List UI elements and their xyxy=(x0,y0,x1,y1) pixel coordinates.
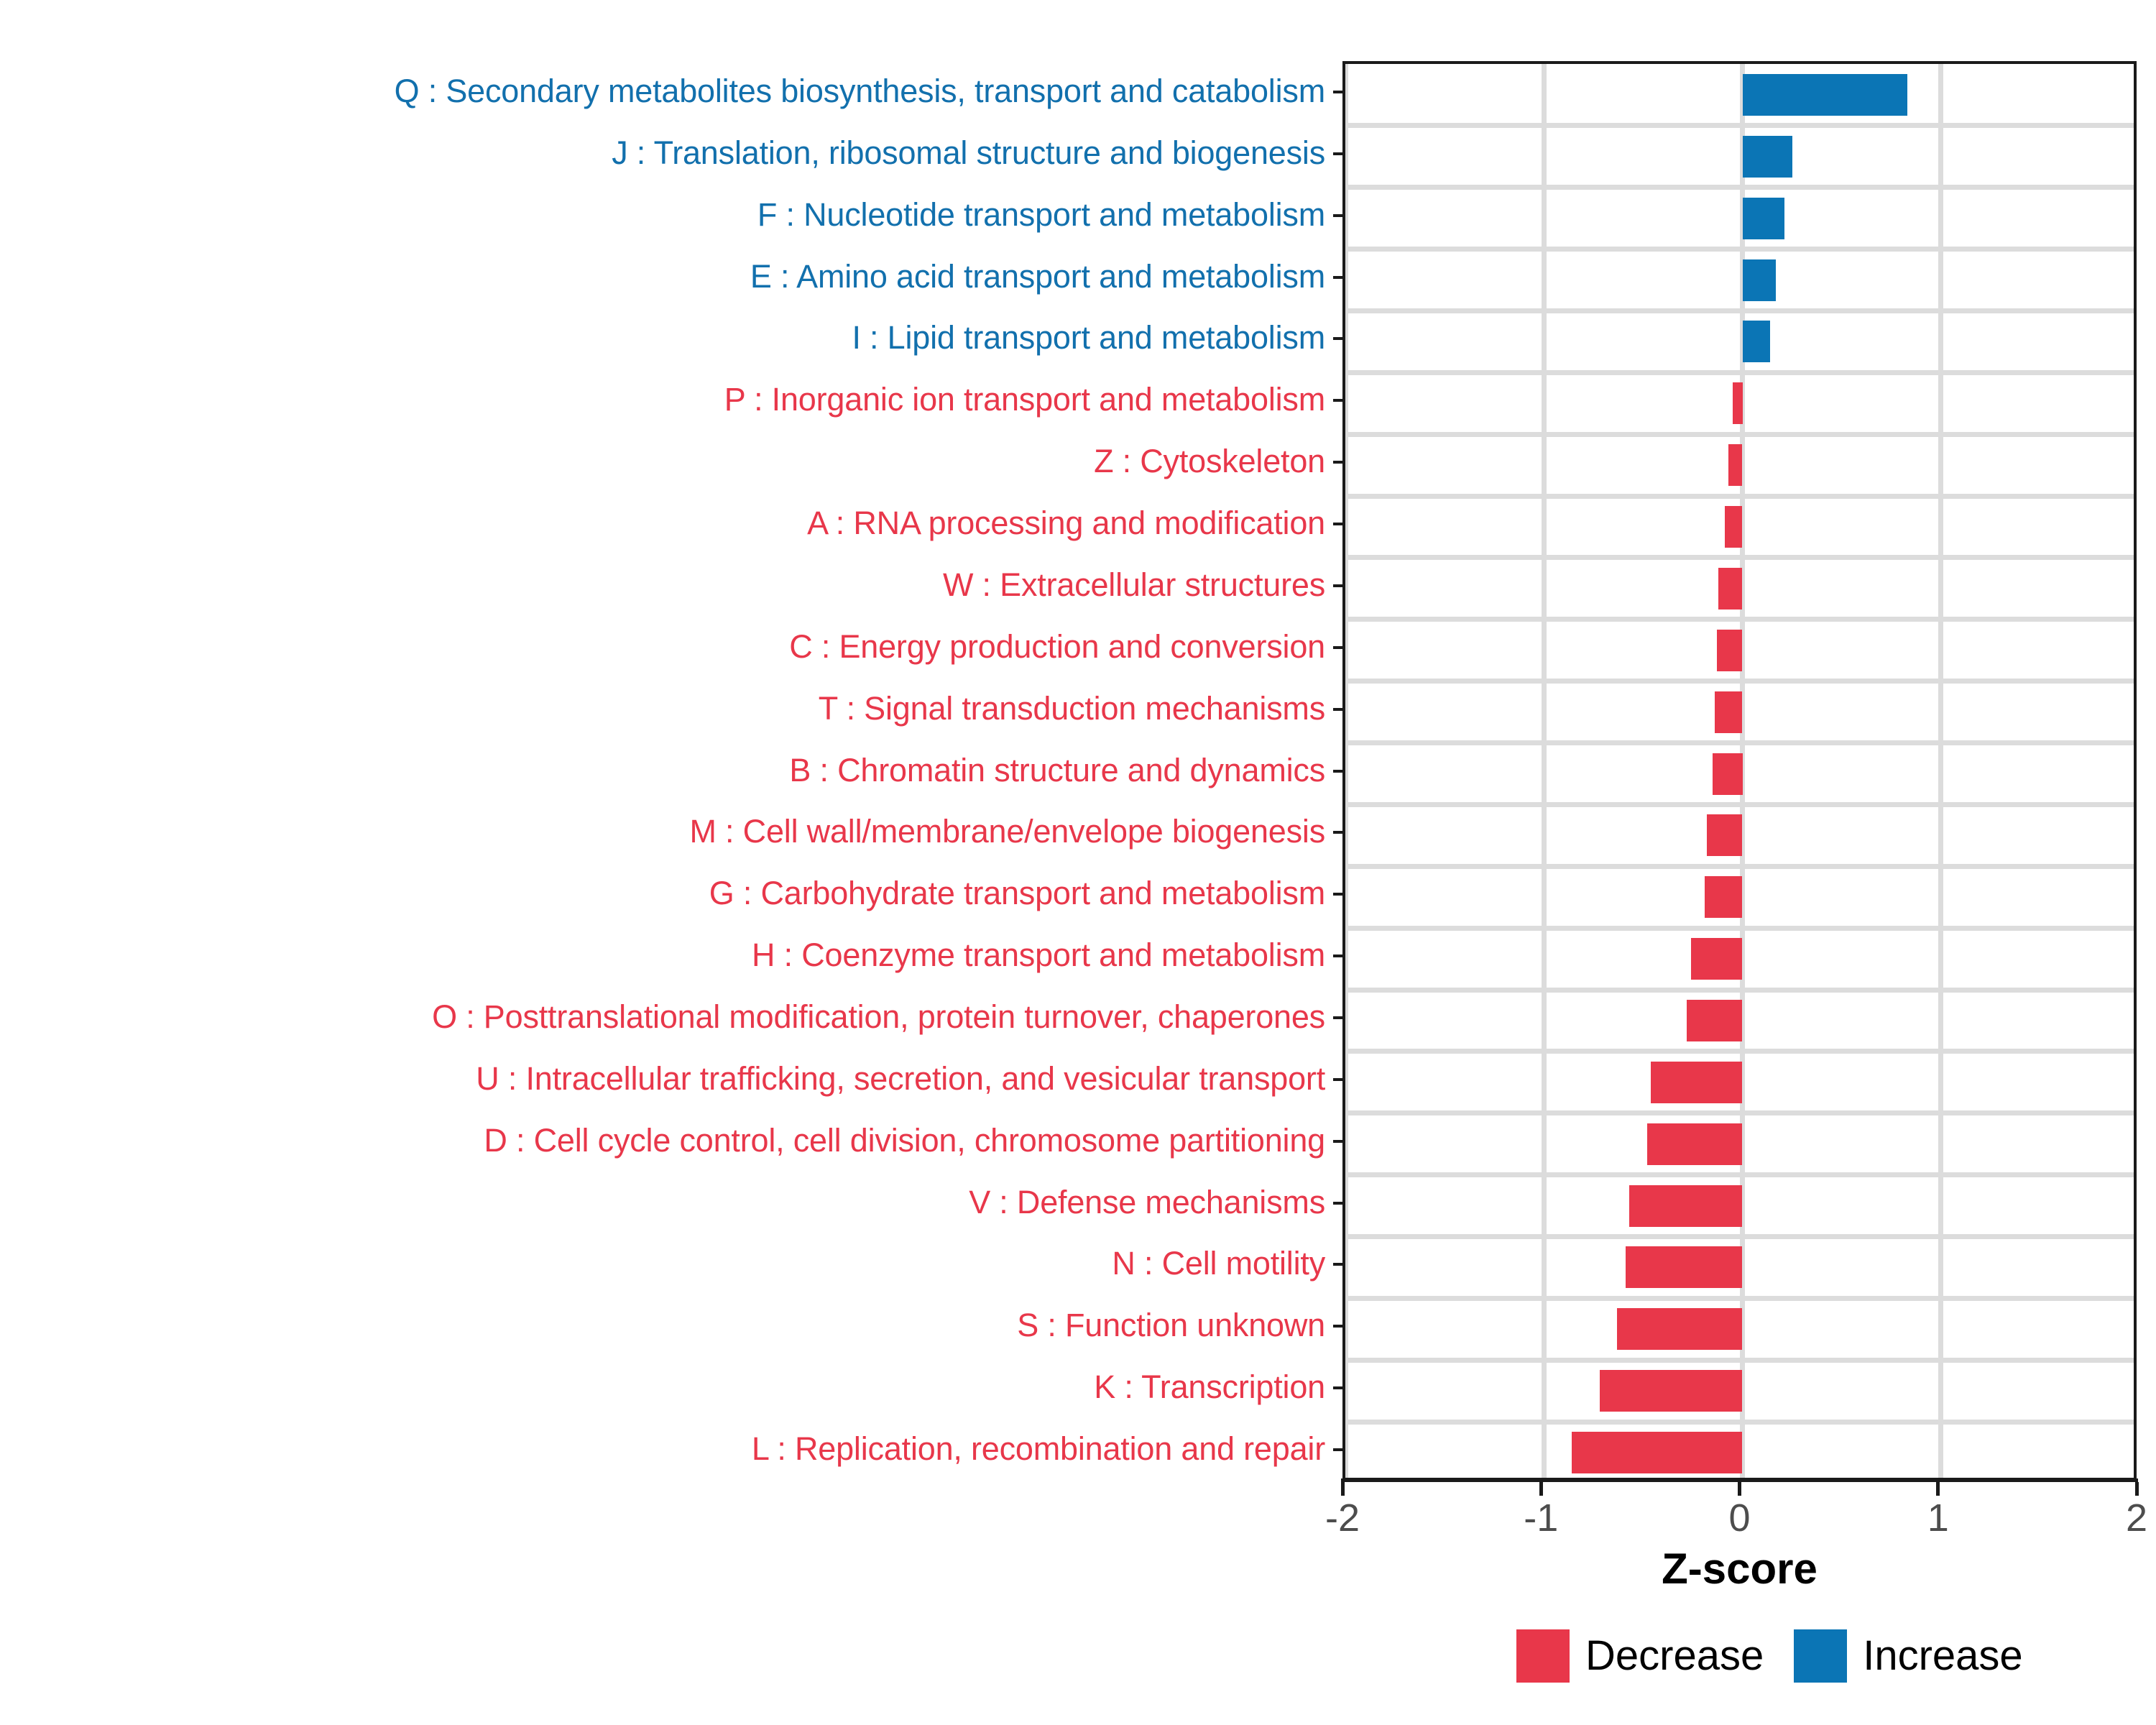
bar xyxy=(1691,938,1743,980)
y-axis-tick xyxy=(1333,91,1342,93)
category-label: A : RNA processing and modification xyxy=(807,507,1325,539)
bar xyxy=(1572,1432,1743,1473)
x-axis-tick xyxy=(1738,1482,1741,1496)
category-label: I : Lipid transport and metabolism xyxy=(852,321,1325,354)
y-axis-tick xyxy=(1333,1448,1342,1451)
y-axis-tick xyxy=(1333,152,1342,155)
y-axis-tick xyxy=(1333,1263,1342,1266)
x-axis-tick-label: -2 xyxy=(1325,1499,1360,1537)
horizontal-gridline xyxy=(1345,247,2134,252)
bar xyxy=(1717,630,1743,671)
category-label: G : Carbohydrate transport and metabolis… xyxy=(709,877,1325,909)
y-axis-tick xyxy=(1333,1016,1342,1019)
horizontal-gridline xyxy=(1345,185,2134,190)
x-axis-tick-label: 1 xyxy=(1927,1499,1949,1537)
legend-swatch xyxy=(1794,1629,1847,1683)
horizontal-gridline xyxy=(1345,1049,2134,1054)
category-label: E : Amino acid transport and metabolism xyxy=(750,260,1325,293)
bar xyxy=(1629,1185,1742,1227)
bar xyxy=(1728,444,1742,486)
y-axis-tick xyxy=(1333,1078,1342,1081)
legend-item: Increase xyxy=(1794,1629,2022,1683)
y-axis-tick xyxy=(1333,276,1342,279)
x-axis-tick-label: 0 xyxy=(1728,1499,1750,1537)
horizontal-gridline xyxy=(1345,802,2134,807)
y-axis-tick xyxy=(1333,646,1342,649)
horizontal-gridline xyxy=(1345,617,2134,622)
vertical-gridline xyxy=(1542,64,1547,1478)
bar xyxy=(1647,1123,1743,1165)
bar xyxy=(1743,259,1777,301)
vertical-gridline xyxy=(1938,64,1943,1478)
y-axis-tick xyxy=(1333,337,1342,340)
category-label: L : Replication, recombination and repai… xyxy=(752,1432,1325,1465)
y-axis-tick xyxy=(1333,1140,1342,1143)
cog-zscore-bar-chart: Q : Secondary metabolites biosynthesis, … xyxy=(0,0,2156,1725)
y-axis-tick xyxy=(1333,1325,1342,1328)
bar xyxy=(1715,691,1743,733)
y-axis-tick xyxy=(1333,523,1342,525)
x-axis-tick-label: -1 xyxy=(1524,1499,1558,1537)
bar xyxy=(1725,506,1743,548)
x-axis-tick-label: 2 xyxy=(2126,1499,2147,1537)
legend: DecreaseIncrease xyxy=(1516,1626,2053,1686)
horizontal-gridline xyxy=(1345,370,2134,375)
horizontal-gridline xyxy=(1345,740,2134,745)
x-axis-tick xyxy=(2135,1482,2139,1496)
horizontal-gridline xyxy=(1345,1420,2134,1425)
y-axis-tick xyxy=(1333,708,1342,711)
horizontal-gridline xyxy=(1345,864,2134,869)
bar xyxy=(1600,1370,1743,1412)
category-label: P : Inorganic ion transport and metaboli… xyxy=(724,383,1325,415)
bar xyxy=(1743,198,1784,239)
x-axis-tick xyxy=(1341,1482,1345,1496)
horizontal-gridline xyxy=(1345,1296,2134,1301)
horizontal-gridline xyxy=(1345,926,2134,931)
horizontal-gridline xyxy=(1345,494,2134,499)
y-axis-tick xyxy=(1333,893,1342,896)
category-label: H : Coenzyme transport and metabolism xyxy=(752,939,1325,971)
x-axis-tick xyxy=(1539,1482,1543,1496)
category-label: S : Function unknown xyxy=(1017,1309,1325,1341)
category-label: W : Extracellular structures xyxy=(943,569,1325,601)
horizontal-gridline xyxy=(1345,1110,2134,1115)
bar xyxy=(1743,321,1771,362)
plot-panel xyxy=(1342,61,2137,1481)
horizontal-gridline xyxy=(1345,432,2134,437)
category-label: U : Intracellular trafficking, secretion… xyxy=(476,1062,1325,1095)
legend-swatch xyxy=(1516,1629,1570,1683)
bar xyxy=(1718,568,1742,609)
bar xyxy=(1705,876,1742,918)
bar xyxy=(1617,1308,1742,1350)
vertical-gridline xyxy=(1343,64,1348,1478)
bar xyxy=(1687,1000,1742,1041)
category-label: C : Energy production and conversion xyxy=(789,630,1325,663)
category-axis-labels: Q : Secondary metabolites biosynthesis, … xyxy=(0,61,1334,1481)
category-label: F : Nucleotide transport and metabolism xyxy=(757,198,1325,231)
y-axis-tick xyxy=(1333,831,1342,834)
category-label: O : Posttranslational modification, prot… xyxy=(432,1000,1325,1033)
x-axis-tick xyxy=(1936,1482,1940,1496)
y-axis-tick xyxy=(1333,584,1342,587)
category-label: J : Translation, ribosomal structure and… xyxy=(612,137,1325,169)
horizontal-gridline xyxy=(1345,123,2134,128)
category-label: B : Chromatin structure and dynamics xyxy=(789,754,1325,786)
bar xyxy=(1707,814,1743,856)
horizontal-gridline xyxy=(1345,678,2134,684)
bar xyxy=(1713,753,1742,795)
y-axis-tick xyxy=(1333,770,1342,773)
category-label: N : Cell motility xyxy=(1112,1247,1325,1279)
legend-item: Decrease xyxy=(1516,1629,1764,1683)
horizontal-gridline xyxy=(1345,555,2134,560)
category-label: M : Cell wall/membrane/envelope biogenes… xyxy=(689,815,1325,847)
y-axis-tick xyxy=(1333,1386,1342,1389)
legend-label: Increase xyxy=(1863,1635,2022,1677)
legend-label: Decrease xyxy=(1585,1635,1764,1677)
bar xyxy=(1733,382,1743,424)
y-axis-tick xyxy=(1333,214,1342,217)
horizontal-gridline xyxy=(1345,1234,2134,1239)
category-label: K : Transcription xyxy=(1094,1371,1325,1403)
horizontal-gridline xyxy=(1345,308,2134,313)
category-label: Q : Secondary metabolites biosynthesis, … xyxy=(395,75,1325,107)
y-axis-tick xyxy=(1333,954,1342,957)
y-axis-tick xyxy=(1333,399,1342,402)
horizontal-gridline xyxy=(1345,1358,2134,1363)
y-axis-tick xyxy=(1333,1202,1342,1205)
category-label: T : Signal transduction mechanisms xyxy=(819,692,1325,724)
bar xyxy=(1743,136,1792,178)
category-label: D : Cell cycle control, cell division, c… xyxy=(484,1124,1325,1156)
bar xyxy=(1743,74,1907,116)
category-label: V : Defense mechanisms xyxy=(969,1186,1325,1218)
horizontal-gridline xyxy=(1345,1172,2134,1177)
x-axis-title: Z-score xyxy=(1342,1547,2137,1591)
bar xyxy=(1626,1246,1743,1288)
horizontal-gridline xyxy=(1345,988,2134,993)
y-axis-tick xyxy=(1333,461,1342,464)
bar xyxy=(1651,1062,1742,1103)
category-label: Z : Cytoskeleton xyxy=(1094,445,1325,477)
